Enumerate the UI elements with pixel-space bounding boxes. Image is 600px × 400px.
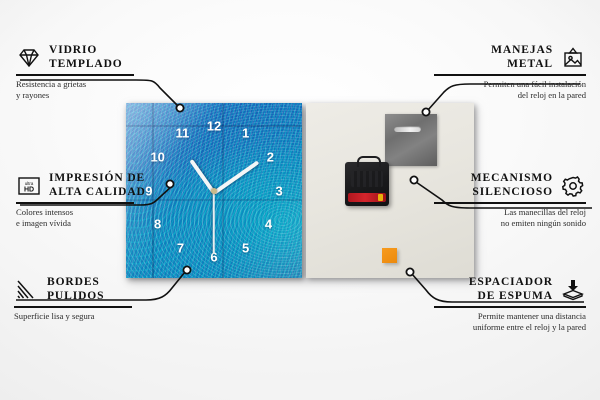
hanger-keyhole-slot [394,126,421,132]
callout-espaciador-de-espuma[interactable]: Espaciador de espuma Permite mantener un… [434,276,586,334]
callout-description: Permite mantener una distancia uniforme … [434,311,586,334]
callout-description: Colores intensos e imagen vívida [16,207,146,230]
mechanism-battery [348,193,386,202]
foam-spacer-pad [382,248,397,263]
callout-title: Manejas metal [491,44,553,71]
callout-description: Resistencia a grietas y rayones [16,79,134,102]
callout-description: Permiten una fácil instalación del reloj… [434,79,586,102]
diamond-icon [16,46,42,70]
callout-description: Las manecillas del reloj no emiten ningú… [434,207,586,230]
callout-title: Espaciador de espuma [469,276,553,303]
callout-rule [14,306,132,307]
infographic-canvas: 12 1 2 3 4 5 6 7 8 9 10 11 [0,0,600,400]
polished-edges-icon [14,278,40,302]
product-photo: 12 1 2 3 4 5 6 7 8 9 10 11 [126,103,474,278]
callout-rule [16,74,134,75]
gear-icon [560,174,586,198]
mechanism-hang-loop [357,156,381,167]
callout-rule [434,202,586,203]
callout-title: Bordes pulidos [47,276,104,303]
callout-rule [434,306,586,307]
callout-vidrio-templado[interactable]: Vidrio templado Resistencia a grietas y … [16,44,134,102]
foam-spacer-icon [560,278,586,302]
svg-text:HD: HD [24,186,34,193]
glass-reflection [126,103,302,278]
callout-title: Vidrio templado [49,44,123,71]
ultra-hd-icon: ultra HD [16,174,42,198]
clock-front-face: 12 1 2 3 4 5 6 7 8 9 10 11 [126,103,302,278]
callout-bordes-pulidos[interactable]: Bordes pulidos Superficie lisa y segura [14,276,132,322]
callout-rule [434,74,586,75]
svg-text:ultra: ultra [25,181,34,186]
metal-hanger-bracket [385,114,437,166]
callout-impresion-alta-calidad[interactable]: ultra HD Impresión de alta calidad Color… [16,172,146,230]
callout-mecanismo-silencioso[interactable]: Mecanismo silencioso Las manecillas del … [434,172,586,230]
clock-mechanism-module [345,162,389,206]
picture-hanger-icon [560,46,586,70]
callout-title: Mecanismo silencioso [471,172,553,199]
callout-description: Superficie lisa y segura [14,311,132,323]
mechanism-body-detail [351,171,383,187]
callout-rule [16,202,134,203]
callout-title: Impresión de alta calidad [49,172,146,199]
callout-manejas-metal[interactable]: Manejas metal Permiten una fácil instala… [434,44,586,102]
